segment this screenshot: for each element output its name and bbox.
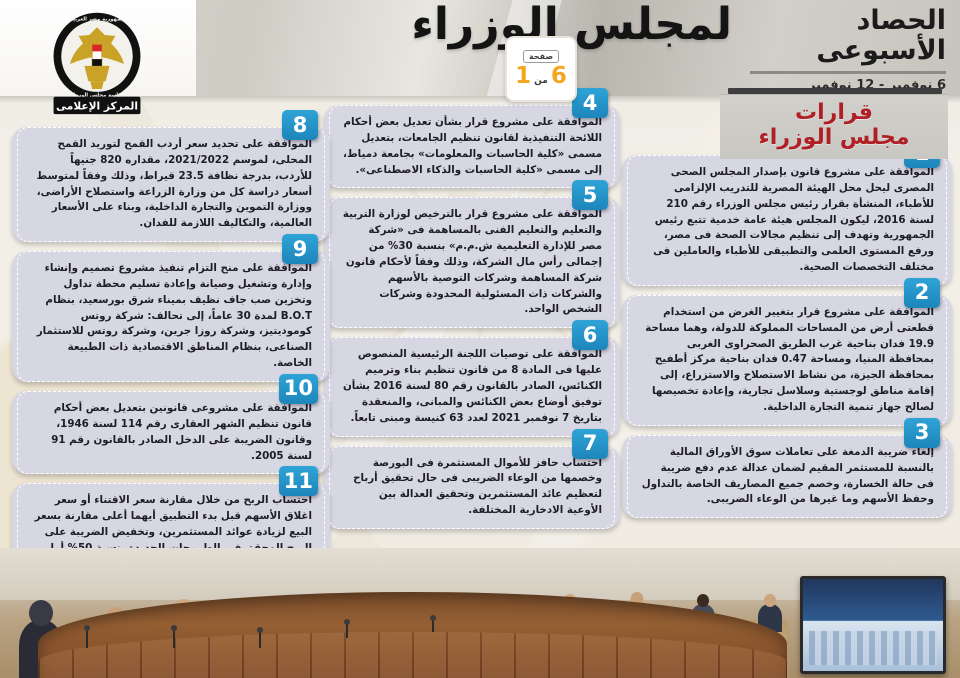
page-badge-label: صفحة — [523, 50, 559, 63]
page-badge-current: 1 — [515, 65, 531, 88]
header-title-line2: الأسبوعى — [750, 36, 946, 66]
card-inner: احتساب حافز للأموال المستثمرة فى البورصة… — [329, 446, 615, 529]
card-text: الموافقة على مشروع قانون بإصدار المجلس ا… — [640, 165, 934, 276]
card-number-badge: 11 — [279, 466, 318, 496]
section-heading-line1: قرارات — [734, 100, 934, 125]
section-heading: قرارات مجلس الوزراء — [720, 88, 948, 159]
header-title-block: الحصاد الأسبوعى 6 نوفمبر - 12 نوفمبر — [750, 6, 946, 93]
card-inner: الموافقة على منح التزام تنفيذ مشروع تصمي… — [17, 251, 325, 382]
card-text: الموافقة على منح التزام تنفيذ مشروع تصمي… — [30, 261, 312, 372]
page-badge-of-word: من — [534, 76, 548, 86]
header-divider — [750, 71, 946, 74]
decision-card: 5 الموافقة على مشروع قرار بالترخيص لوزار… — [324, 197, 620, 328]
section-heading-panel: قرارات مجلس الوزراء — [720, 94, 948, 159]
card-text: الموافقة على مشروع قرار بالترخيص لوزارة … — [342, 207, 602, 318]
photo-presentation-screen — [800, 576, 946, 674]
svg-text:جمهورية مصر العربية: جمهورية مصر العربية — [70, 16, 125, 22]
card-text: إلغاء ضريبة الدمغة على تعاملات سوق الأور… — [640, 445, 934, 508]
card-text: الموافقة على توصيات اللجنة الرئيسية المن… — [342, 347, 602, 426]
card-inner: الموافقة على مشروع قانون بإصدار المجلس ا… — [627, 155, 947, 286]
card-number-badge: 3 — [904, 418, 940, 448]
card-inner: إلغاء ضريبة الدمغة على تعاملات سوق الأور… — [627, 435, 947, 518]
infographic-page: لمجلس الوزراء الحصاد الأسبوعى 6 نوفمبر -… — [0, 0, 960, 678]
page-indicator-badge: صفحة 6 من 1 — [505, 36, 577, 102]
card-number-badge: 8 — [282, 110, 318, 140]
card-inner: الموافقة على مشروعى قانونين بتعديل بعض أ… — [17, 391, 325, 474]
photo-microphone — [173, 630, 175, 648]
decision-card: 1 الموافقة على مشروع قانون بإصدار المجلس… — [622, 155, 952, 286]
column-middle: 4 الموافقة على مشروع قرار بشأن تعديل بعض… — [324, 100, 620, 538]
header-title-line1: الحصاد — [750, 6, 946, 36]
card-inner: الموافقة على مشروع قرار بتغيير الغرض من … — [627, 295, 947, 426]
photo-person-head — [29, 600, 53, 626]
card-text: الموافقة على مشروع قرار بتغيير الغرض من … — [640, 305, 934, 416]
card-text: الموافقة على مشروعى قانونين بتعديل بعض أ… — [30, 401, 312, 464]
cabinet-meeting-photo — [0, 548, 960, 678]
svg-text:المركز الإعلامى: المركز الإعلامى — [56, 99, 138, 112]
decision-card: 2 الموافقة على مشروع قرار بتغيير الغرض م… — [622, 295, 952, 426]
card-number-badge: 4 — [572, 88, 608, 118]
photo-microphone — [86, 630, 88, 648]
photo-person-head — [697, 594, 709, 607]
card-inner: الموافقة على مشروع قرار بالترخيص لوزارة … — [329, 197, 615, 328]
section-heading-line2: مجلس الوزراء — [734, 125, 934, 150]
card-inner: الموافقة على توصيات اللجنة الرئيسية المن… — [329, 337, 615, 436]
card-text: الموافقة على مشروع قرار بشأن تعديل بعض أ… — [342, 115, 602, 178]
photo-microphone — [346, 624, 348, 638]
cabinet-media-center-logo: جمهورية مصر العربية رئاسة مجلس الوزراء ا… — [34, 6, 160, 118]
decision-card: 3 إلغاء ضريبة الدمغة على تعاملات سوق الأ… — [622, 435, 952, 518]
page-badge-numbers: 6 من 1 — [515, 65, 567, 88]
card-text: الموافقة على تحديد سعر أردب القمح لتوريد… — [30, 137, 312, 232]
card-number-badge: 10 — [279, 374, 318, 404]
photo-microphone — [259, 632, 261, 648]
card-number-badge: 6 — [572, 320, 608, 350]
decision-card: 4 الموافقة على مشروع قرار بشأن تعديل بعض… — [324, 105, 620, 188]
decision-card: 10 الموافقة على مشروعى قانونين بتعديل بع… — [12, 391, 330, 474]
decision-card: 8 الموافقة على تحديد سعر أردب القمح لتور… — [12, 127, 330, 242]
card-number-badge: 9 — [282, 234, 318, 264]
page-badge-total: 6 — [551, 65, 567, 88]
decision-card: 7 احتساب حافز للأموال المستثمرة فى البور… — [324, 446, 620, 529]
decision-card: 6 الموافقة على توصيات اللجنة الرئيسية ال… — [324, 337, 620, 436]
photo-person-head — [764, 594, 776, 607]
card-number-badge: 7 — [572, 429, 608, 459]
photo-microphone — [432, 620, 434, 632]
card-number-badge: 5 — [572, 180, 608, 210]
card-text: احتساب حافز للأموال المستثمرة فى البورصة… — [342, 456, 602, 519]
column-right: 1 الموافقة على مشروع قانون بإصدار المجلس… — [622, 150, 952, 527]
card-number-badge: 2 — [904, 278, 940, 308]
decision-card: 9 الموافقة على منح التزام تنفيذ مشروع تص… — [12, 251, 330, 382]
card-inner: الموافقة على مشروع قرار بشأن تعديل بعض أ… — [329, 105, 615, 188]
column-left: 8 الموافقة على تحديد سعر أردب القمح لتور… — [12, 122, 330, 592]
card-inner: الموافقة على تحديد سعر أردب القمح لتوريد… — [17, 127, 325, 242]
